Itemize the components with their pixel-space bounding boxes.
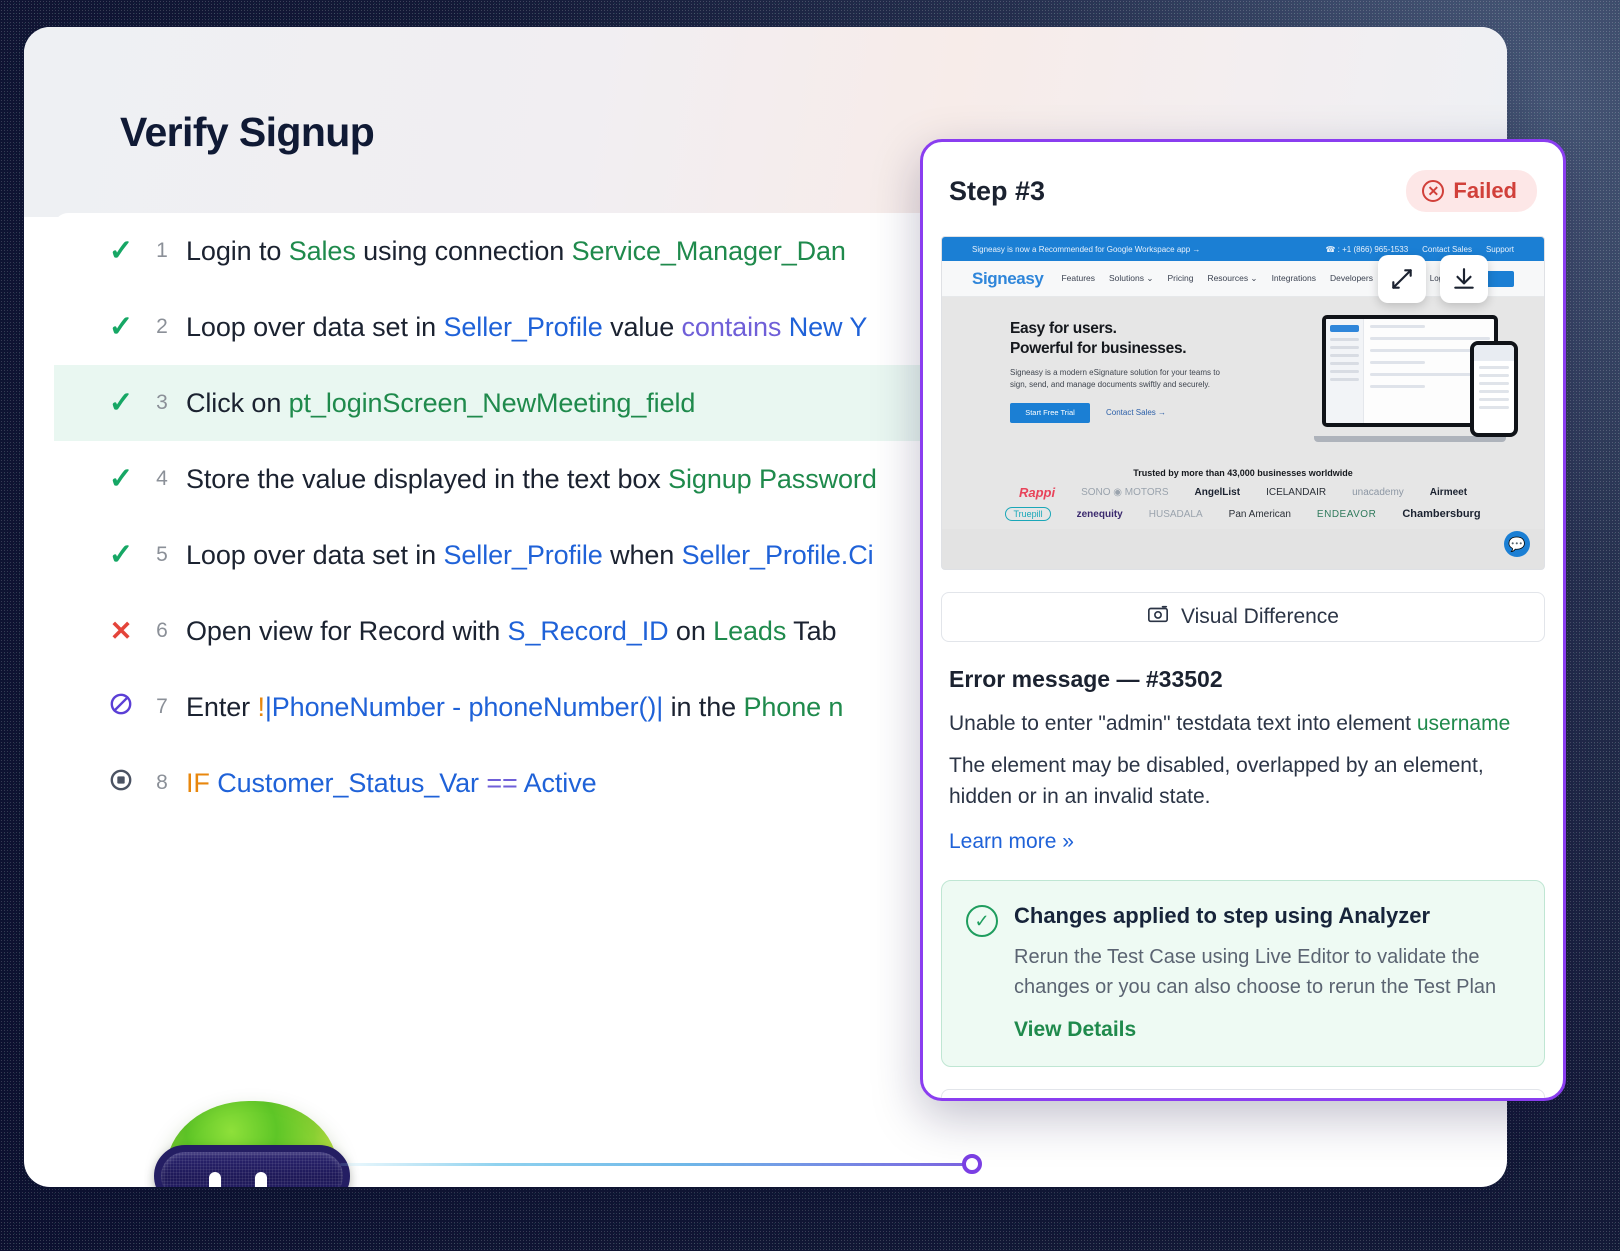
step-token: Active [524,768,597,798]
step-token: Service_Manager_Dan [572,236,846,266]
site-logo: Signeasy [972,269,1043,289]
step-token: Loop over data set in [186,312,443,342]
step-token: value [603,312,682,342]
laptop-sidebar-line [1330,338,1359,341]
step-token: on [669,616,714,646]
step-description: IF Customer_Status_Var == Active [186,768,597,799]
brand-logo: Rappi [1019,485,1055,500]
banner-contact-sales: Contact Sales [1422,245,1472,254]
step-heading: Step #3 [949,176,1045,207]
step-token: PhoneNumber - phoneNumber() [272,692,657,722]
view-details-link[interactable]: View Details [1014,1018,1520,1042]
expand-icon[interactable] [1378,255,1426,303]
step-token: Loop over data set in [186,540,443,570]
check-icon: ✓ [104,541,138,570]
status-badge-label: Failed [1453,178,1517,204]
screenshot-trust-section: Trusted by more than 43,000 businesses w… [942,462,1544,529]
trust-logo-row-1: Rappi SONO ◉ MOTORS AngelList ICELANDAIR… [942,485,1544,500]
stop-icon [104,767,138,799]
skip-icon [104,691,138,723]
step-token: Seller_Profile [443,540,602,570]
hero-device-illustration [1322,311,1518,437]
check-icon: ✓ [104,389,138,418]
step-number: 8 [138,771,186,795]
nav-developers: Developers [1330,273,1373,284]
step-token: New Y [781,312,867,342]
step-screenshot[interactable]: Signeasy is now a Recommended for Google… [941,236,1545,570]
robot-visor [154,1145,350,1187]
laptop-content-line [1370,325,1425,328]
connector-endpoint-dot [962,1154,982,1174]
run-using-live-editor-button[interactable]: Run using Live Editor [941,1089,1545,1101]
laptop-sidebar-line [1330,370,1359,373]
visual-difference-button[interactable]: Visual Difference [941,592,1545,642]
laptop-sidebar [1326,319,1364,423]
laptop-content-line [1370,385,1425,388]
step-token: S_Record_ID [508,616,669,646]
step-token: in the [663,692,743,722]
analyzer-title: Changes applied to step using Analyzer [1014,903,1520,929]
step-number: 3 [138,391,186,415]
phone-line [1479,382,1509,385]
hero-primary-button: Start Free Trial [1010,403,1090,423]
step-description: Open view for Record with S_Record_ID on… [186,616,836,647]
laptop-sidebar-line [1330,346,1359,349]
connector-line [340,1163,972,1166]
laptop-sidebar-line [1330,354,1359,357]
analyzer-body: Rerun the Test Case using Live Editor to… [1014,943,1520,1001]
laptop-content-line [1370,361,1425,364]
site-nav-links: Features Solutions ⌄ Pricing Resources ⌄… [1061,273,1373,284]
step-token: IF [186,768,217,798]
step-token: | [265,692,272,722]
check-icon: ✓ [104,465,138,494]
brand-logo: Chambersburg [1402,508,1480,520]
brand-logo: HUSADALA [1149,509,1203,520]
step-number: 1 [138,239,186,263]
phone-mockup [1470,341,1518,437]
step-token: Login to [186,236,289,266]
brand-logo: Truepill [1005,507,1050,521]
analyzer-content: Changes applied to step using Analyzer R… [1014,903,1520,1041]
nav-solutions: Solutions ⌄ [1109,273,1153,284]
step-description: Loop over data set in Seller_Profile whe… [186,540,874,571]
step-description: Click on pt_loginScreen_NewMeeting_field [186,388,695,419]
step-token: Sales [289,236,356,266]
step-description: Enter !|PhoneNumber - phoneNumber()| in … [186,692,843,723]
robot-eye-right [255,1172,267,1187]
laptop-sidebar-line [1330,378,1359,381]
step-token: contains [682,312,782,342]
brand-logo: ENDEAVOR [1317,509,1376,520]
step-token: using connection [356,236,572,266]
trust-logo-row-2: Truepill zenequity HUSADALA Pan American… [942,507,1544,521]
error-line-2: The element may be disabled, overlapped … [949,751,1537,812]
brand-logo: Pan American [1229,509,1291,520]
brand-logo: unacademy [1352,487,1404,498]
robot-avatar [166,1101,338,1187]
page-title: Verify Signup [120,109,374,156]
error-title: Error message — #33502 [949,666,1537,693]
brand-logo: SONO ◉ MOTORS [1081,487,1168,498]
step-token: == [479,768,524,798]
step-token: Seller_Profile.Ci [682,540,874,570]
nav-pricing: Pricing [1167,273,1193,284]
step-number: 7 [138,695,186,719]
cross-icon: ✕ [104,618,138,645]
step-description: Loop over data set in Seller_Profile val… [186,312,867,343]
hero-secondary-link: Contact Sales → [1106,408,1166,417]
laptop-sidebar-line [1330,362,1359,365]
step-token: Leads [713,616,786,646]
chat-bubble-icon[interactable]: 💬 [1504,531,1530,557]
step-token: ! [257,692,264,722]
phone-line [1479,398,1509,401]
step-token: Click on [186,388,289,418]
phone-line [1479,366,1509,369]
step-token: pt_loginScreen_NewMeeting_field [289,388,696,418]
learn-more-link[interactable]: Learn more » [949,830,1537,854]
step-token: when [603,540,682,570]
analyzer-card: ✓ Changes applied to step using Analyzer… [941,880,1545,1066]
step-number: 4 [138,467,186,491]
screenshot-hero: Easy for users. Powerful for businesses.… [942,297,1544,462]
nav-resources: Resources ⌄ [1207,273,1257,284]
phone-line [1479,390,1509,393]
nav-features: Features [1061,273,1095,284]
trust-title: Trusted by more than 43,000 businesses w… [942,468,1544,478]
check-circle-icon: ✓ [966,905,998,937]
failed-icon: ✕ [1422,180,1444,202]
step-description: Store the value displayed in the text bo… [186,464,877,495]
banner-text: Signeasy is now a Recommended for Google… [972,245,1200,254]
step-token: Enter [186,692,257,722]
step-token: Signup Password [668,464,877,494]
step-number: 5 [138,543,186,567]
brand-logo: ICELANDAIR [1266,487,1326,498]
download-icon[interactable] [1440,255,1488,303]
step-token: Store the value displayed in the text bo… [186,464,668,494]
status-badge: ✕ Failed [1406,170,1537,212]
step-token: Open view for Record with [186,616,508,646]
step-token: Customer_Status_Var [217,768,479,798]
brand-logo: Airmeet [1430,487,1467,498]
step-token: Seller_Profile [443,312,602,342]
banner-right-links: ☎ : +1 (866) 965-1533 Contact Sales Supp… [1325,245,1514,254]
phone-line [1479,374,1509,377]
error-block: Error message — #33502 Unable to enter "… [923,642,1563,854]
banner-phone: ☎ : +1 (866) 965-1533 [1325,245,1408,254]
brand-logo: AngelList [1195,487,1241,498]
step-description: Login to Sales using connection Service_… [186,236,846,267]
step-number: 2 [138,315,186,339]
laptop-content-line [1370,337,1490,340]
visual-difference-label: Visual Difference [1181,605,1339,629]
step-token: Phone n [743,692,843,722]
check-icon: ✓ [104,313,138,342]
step-token: Tab [786,616,836,646]
nav-integrations: Integrations [1272,273,1316,284]
error-element-name: username [1417,712,1510,735]
laptop-sidebar-accent [1330,325,1359,332]
robot-eye-left [209,1172,221,1187]
error-line-1: Unable to enter "admin" testdata text in… [949,709,1537,739]
error-line-1-text: Unable to enter "admin" testdata text in… [949,712,1417,735]
step-detail-panel: Step #3 ✕ Failed Signeasy is now a Recom… [920,139,1566,1101]
check-icon: ✓ [104,237,138,266]
step-number: 6 [138,619,186,643]
phone-line [1479,406,1509,409]
camera-icon [1147,603,1169,631]
banner-support: Support [1486,245,1514,254]
hero-paragraph: Signeasy is a modern eSignature solution… [1010,367,1235,391]
brand-logo: zenequity [1077,509,1123,520]
panel-header: Step #3 ✕ Failed [923,142,1563,224]
phone-header [1474,345,1514,361]
